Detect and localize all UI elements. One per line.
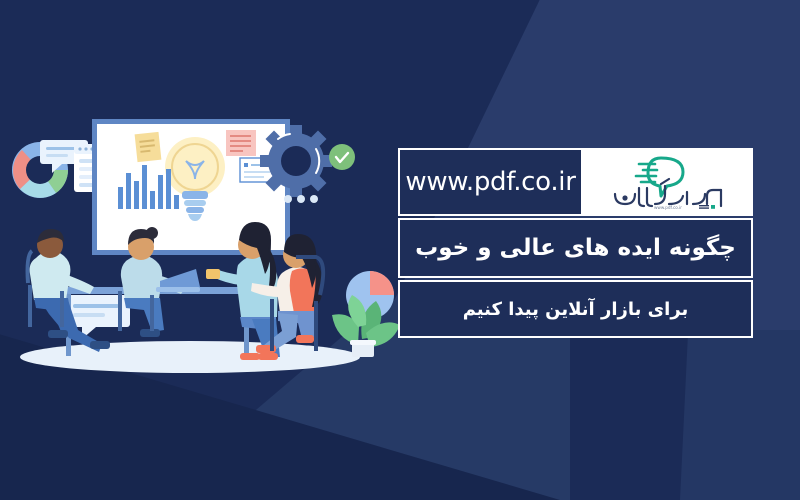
brand-wordmark: [615, 179, 721, 206]
team-brainstorming-meeting-illustration: [0, 95, 400, 395]
sticky-note-pink: [226, 130, 256, 156]
website-url-text: www.pdf.co.ir: [405, 167, 575, 197]
brand-logo-svg: www.pdf.co.ir: [603, 154, 733, 210]
headline-panel: چگونه ایده های عالی و خوب: [398, 218, 753, 278]
speech-bubble-speed-lines-icon: [636, 158, 683, 196]
sticky-note-yellow: [135, 132, 162, 162]
poster-canvas: www.pdf.co.ir: [0, 0, 800, 500]
headline-text: چگونه ایده های عالی و خوب: [415, 235, 736, 261]
subheadline-text: برای بازار آنلاین پیدا کنیم: [463, 299, 689, 320]
brand-logo-url: www.pdf.co.ir: [654, 205, 682, 210]
check-circle-icon: [329, 144, 355, 170]
gear-icon: [260, 125, 332, 197]
website-url-box[interactable]: www.pdf.co.ir: [398, 148, 583, 216]
subheadline-panel: برای بازار آنلاین پیدا کنیم: [398, 280, 753, 338]
brand-logo-box[interactable]: www.pdf.co.ir: [583, 148, 753, 216]
ellipsis-dots-icon: [284, 195, 318, 203]
brand-logo-flag: [699, 205, 715, 209]
info-card: www.pdf.co.ir: [398, 148, 753, 338]
card-top-row: www.pdf.co.ir: [398, 148, 753, 216]
laptop: [156, 269, 200, 293]
